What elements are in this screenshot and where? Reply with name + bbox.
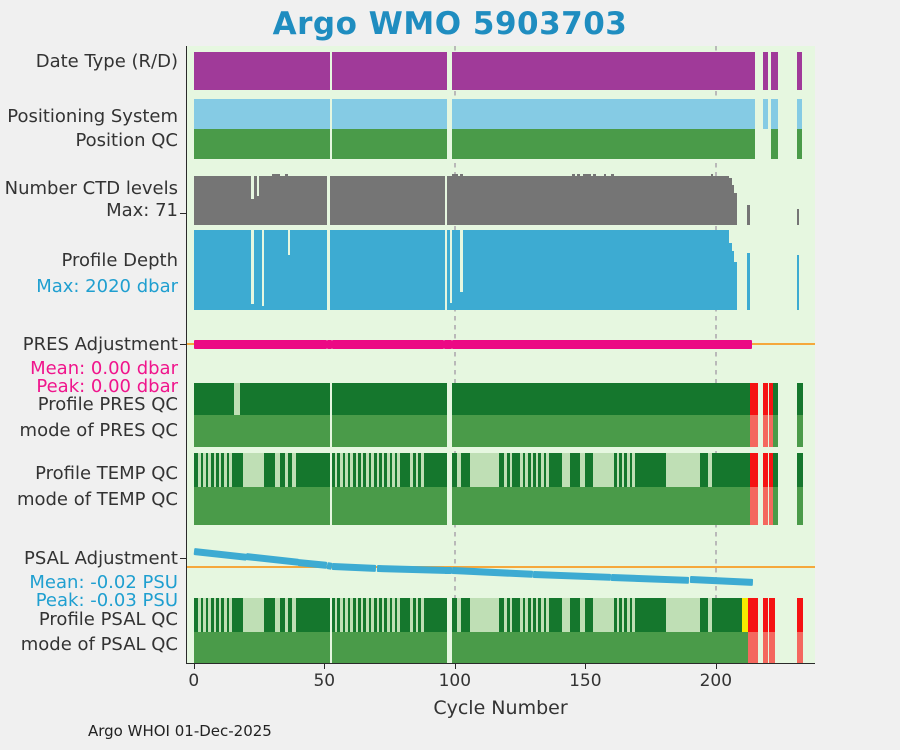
- positioning-system-band: [797, 99, 802, 129]
- profile-pres-qc-band: [240, 383, 329, 415]
- profile-depth-bar: [734, 262, 737, 310]
- mode-temp-qc-band: [797, 487, 804, 525]
- profile-psal-qc-band: [296, 598, 330, 632]
- pres-adjustment-line: [444, 340, 452, 349]
- profile-psal-qc-band: [748, 598, 757, 632]
- x-axis-line: [186, 663, 815, 664]
- pres-adjustment-line: [452, 340, 752, 349]
- label-ctd-max: Max: 71: [106, 200, 178, 222]
- x-tick-mark: [585, 664, 586, 669]
- label-profile-depth: Profile Depth: [61, 250, 178, 272]
- x-axis-label: Cycle Number: [186, 697, 815, 719]
- profile-psal-qc-band: [635, 598, 669, 632]
- mode-temp-qc-band: [773, 487, 778, 525]
- profile-psal-qc-band: [424, 598, 447, 632]
- profile-depth-bar: [447, 230, 450, 310]
- mode-psal-qc-band: [452, 632, 751, 664]
- label-mode-temp-qc: mode of TEMP QC: [17, 489, 178, 511]
- profile-temp-qc-band: [763, 453, 768, 487]
- positioning-system-band: [194, 99, 330, 129]
- profile-pres-qc-band: [763, 383, 768, 415]
- profile-pres-qc-band: [452, 383, 596, 415]
- mode-psal-qc-band: [797, 632, 804, 664]
- mode-pres-qc-band: [452, 415, 752, 447]
- axis-stub-psal: [180, 558, 186, 559]
- date-type-band: [332, 52, 447, 90]
- y-axis-line: [186, 46, 187, 664]
- profile-temp-qc-band: [470, 453, 501, 487]
- label-mode-pres-qc: mode of PRES QC: [20, 420, 178, 442]
- profile-temp-qc-band: [797, 453, 804, 487]
- profile-temp-qc-band: [635, 453, 669, 487]
- profile-depth-bar: [249, 230, 252, 310]
- profile-psal-qc-band: [763, 598, 768, 632]
- x-tick-label: 50: [313, 671, 335, 691]
- pres-adjustment-line: [194, 340, 327, 349]
- position-qc-band: [797, 129, 802, 159]
- x-tick-mark: [455, 664, 456, 669]
- profile-pres-qc-band: [797, 383, 804, 415]
- label-number-ctd-levels: Number CTD levels: [5, 178, 178, 200]
- profile-psal-qc-band: [797, 598, 804, 632]
- mode-temp-qc-band: [763, 487, 768, 525]
- pres-adjustment-line: [332, 340, 444, 349]
- footer-credit: Argo WHOI 01-Dec-2025: [88, 722, 272, 740]
- label-profile-temp-qc: Profile TEMP QC: [35, 463, 178, 485]
- mode-pres-qc-band: [773, 415, 778, 447]
- profile-depth-bar: [324, 230, 327, 310]
- profile-pres-qc-band: [750, 383, 758, 415]
- row-label-gutter: Date Type (R/D) Positioning System Posit…: [0, 0, 182, 750]
- position-qc-band: [452, 129, 755, 159]
- date-type-band: [194, 52, 330, 90]
- mode-psal-qc-band: [194, 632, 330, 664]
- profile-depth-bar: [442, 230, 445, 310]
- x-tick-label: 200: [700, 671, 732, 691]
- positioning-system-band: [452, 99, 755, 129]
- label-pres-adjustment: PRES Adjustment: [23, 334, 178, 356]
- profile-temp-qc-band: [773, 453, 778, 487]
- date-type-band: [763, 52, 768, 90]
- ctd-level-bar: [442, 176, 445, 225]
- x-tick-mark: [716, 664, 717, 669]
- profile-pres-qc-band: [332, 383, 447, 415]
- ctd-level-bar: [324, 176, 327, 225]
- x-tick-label: 150: [569, 671, 601, 691]
- positioning-system-band: [332, 99, 447, 129]
- date-type-band: [771, 52, 779, 90]
- profile-psal-qc-band: [666, 598, 703, 632]
- profile-psal-qc-band: [769, 598, 774, 632]
- profile-temp-qc-band: [666, 453, 703, 487]
- mode-pres-qc-band: [797, 415, 804, 447]
- profile-temp-qc-band: [750, 453, 758, 487]
- axis-stub-pres: [180, 344, 186, 345]
- psal-zero-reference-line: [186, 566, 815, 568]
- axis-stub-ctd: [180, 213, 186, 214]
- profile-temp-qc-band: [296, 453, 330, 487]
- ctd-level-bar: [797, 209, 800, 225]
- ctd-level-bar: [734, 193, 737, 225]
- profile-psal-qc-band: [470, 598, 501, 632]
- mode-pres-qc-band: [763, 415, 768, 447]
- mode-pres-qc-band: [194, 415, 330, 447]
- x-tick-mark: [194, 664, 195, 669]
- mode-pres-qc-band: [332, 415, 447, 447]
- label-psal-adjustment: PSAL Adjustment: [24, 548, 178, 570]
- profile-depth-bar: [797, 255, 800, 310]
- profile-depth-bar: [259, 230, 262, 310]
- mode-psal-qc-band: [763, 632, 768, 664]
- x-tick-mark: [324, 664, 325, 669]
- mode-psal-qc-band: [769, 632, 774, 664]
- profile-pres-qc-band: [773, 383, 778, 415]
- label-date-type: Date Type (R/D): [36, 51, 178, 73]
- positioning-system-band: [771, 99, 779, 129]
- mode-pres-qc-band: [750, 415, 758, 447]
- mode-temp-qc-band: [332, 487, 447, 525]
- position-qc-band: [194, 129, 330, 159]
- profile-depth-bar: [747, 253, 750, 310]
- argo-summary-plot: 050100150200: [186, 46, 815, 664]
- x-tick-label: 100: [439, 671, 471, 691]
- label-profile-pres-qc: Profile PRES QC: [38, 394, 178, 416]
- positioning-system-band: [763, 99, 768, 129]
- ctd-level-bar: [747, 205, 750, 225]
- label-position-qc: Position QC: [75, 130, 178, 152]
- date-type-band: [452, 52, 755, 90]
- mode-psal-qc-band: [332, 632, 447, 664]
- profile-temp-qc-band: [424, 453, 447, 487]
- position-qc-band: [771, 129, 779, 159]
- label-profile-psal-qc: Profile PSAL QC: [39, 609, 178, 631]
- x-tick-label: 0: [188, 671, 199, 691]
- mode-temp-qc-band: [452, 487, 752, 525]
- mode-temp-qc-band: [194, 487, 330, 525]
- label-positioning-system: Positioning System: [7, 106, 178, 128]
- profile-pres-qc-band: [194, 383, 236, 415]
- label-mode-psal-qc: mode of PSAL QC: [21, 634, 178, 656]
- date-type-band: [797, 52, 802, 90]
- mode-temp-qc-band: [750, 487, 758, 525]
- position-qc-band: [332, 129, 447, 159]
- label-depth-max: Max: 2020 dbar: [36, 276, 178, 298]
- profile-pres-qc-band: [596, 383, 753, 415]
- mode-psal-qc-band: [748, 632, 757, 664]
